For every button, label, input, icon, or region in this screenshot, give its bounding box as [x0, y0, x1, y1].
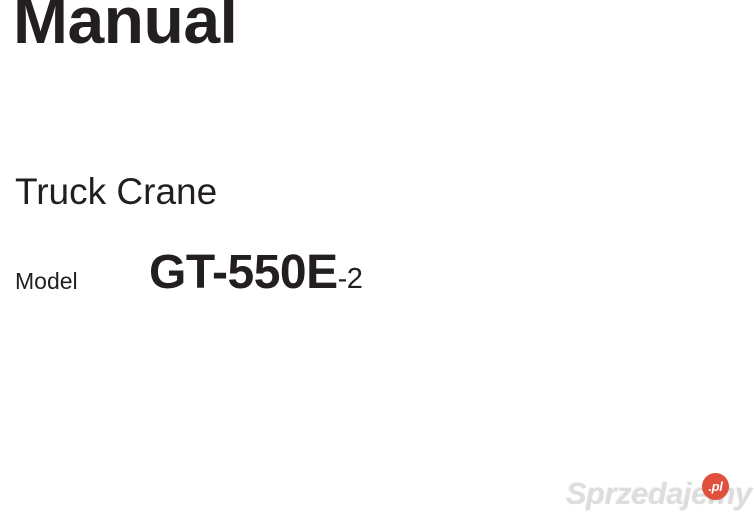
manual-cover-page: Manual Truck Crane Model GT-550E-2 Sprze…	[0, 0, 754, 527]
model-number-main: GT-550E	[149, 246, 338, 299]
model-number-suffix: -2	[338, 263, 363, 295]
product-type-label: Truck Crane	[15, 173, 217, 210]
model-row: Model GT-550E-2	[15, 245, 515, 297]
model-number: GT-550E-2	[149, 249, 362, 297]
watermark-badge-icon: .pl	[702, 473, 729, 500]
site-watermark: Sprzedajemy .pl	[566, 472, 746, 517]
watermark-badge-label: .pl	[702, 473, 729, 500]
page-title: Manual	[13, 0, 237, 53]
model-field-label: Model	[15, 270, 78, 293]
